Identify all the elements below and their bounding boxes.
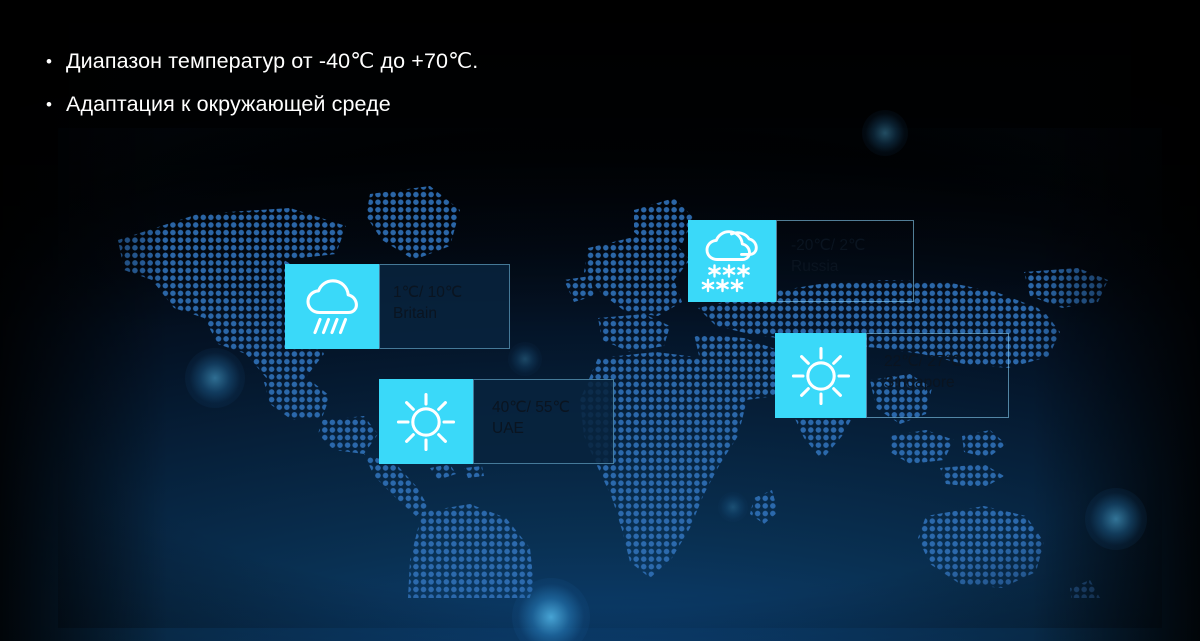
bullet-marker-icon: • — [46, 53, 66, 70]
temperature-value: 22℃/ 27℃ — [884, 351, 998, 372]
bullet-item: • Адаптация к окружающей среде — [46, 91, 806, 118]
bullet-text: Диапазон температур от -40℃ до +70℃. — [66, 48, 478, 75]
weather-card-panel: 1℃/ 10℃ Britain — [379, 264, 510, 349]
bullet-item: • Диапазон температур от -40℃ до +70℃. — [46, 48, 806, 75]
sun-icon — [379, 379, 473, 464]
bullet-list: • Диапазон температур от -40℃ до +70℃. •… — [46, 48, 806, 134]
weather-card-text: 22℃/ 27℃ Singapore — [884, 351, 998, 394]
location-label: Britain — [393, 303, 499, 324]
location-label: Singapore — [884, 372, 998, 393]
weather-card-russia[interactable]: -20℃/ 2℃ Russia — [688, 220, 914, 302]
temperature-value: 40℃/ 55℃ — [492, 397, 603, 418]
sun-icon — [775, 333, 866, 418]
weather-card-singapore[interactable]: 22℃/ 27℃ Singapore — [775, 333, 1009, 418]
snow-cloud-icon — [688, 220, 776, 302]
temperature-value: 1℃/ 10℃ — [393, 282, 499, 303]
weather-card-text: -20℃/ 2℃ Russia — [791, 235, 903, 278]
weather-card-panel: -20℃/ 2℃ Russia — [776, 220, 914, 302]
weather-card-britain[interactable]: 1℃/ 10℃ Britain — [285, 264, 510, 349]
weather-card-uae[interactable]: 40℃/ 55℃ UAE — [379, 379, 614, 464]
location-label: UAE — [492, 418, 603, 439]
bullet-marker-icon: • — [46, 96, 66, 113]
bullet-text: Адаптация к окружающей среде — [66, 91, 391, 118]
weather-card-panel: 40℃/ 55℃ UAE — [473, 379, 614, 464]
slide-canvas: • Диапазон температур от -40℃ до +70℃. •… — [0, 0, 1200, 641]
rain-cloud-icon — [285, 264, 379, 349]
weather-card-text: 40℃/ 55℃ UAE — [492, 397, 603, 440]
weather-card-panel: 22℃/ 27℃ Singapore — [866, 333, 1009, 418]
weather-card-text: 1℃/ 10℃ Britain — [393, 282, 499, 325]
location-label: Russia — [791, 256, 903, 277]
temperature-value: -20℃/ 2℃ — [791, 235, 903, 256]
